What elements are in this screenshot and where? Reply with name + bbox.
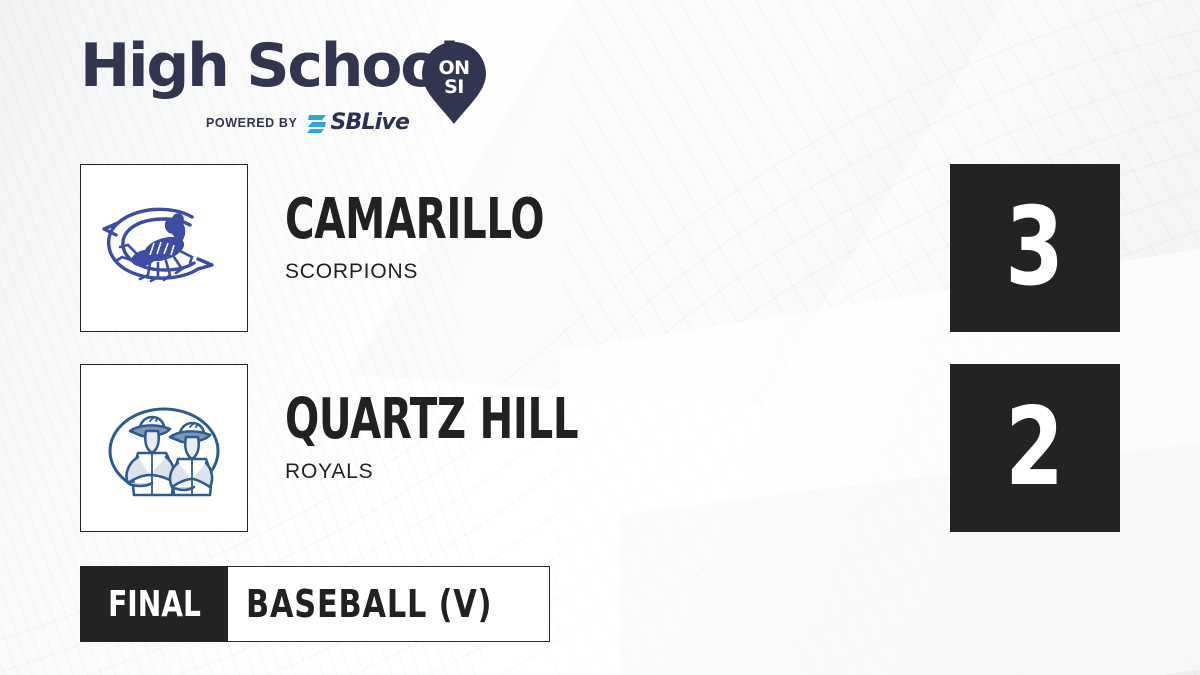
team-logo-box bbox=[80, 164, 248, 332]
team-name: CAMARILLO bbox=[285, 192, 746, 248]
powered-by-lockup: POWERED BY SBLive bbox=[206, 112, 409, 134]
pin-label-si: SI bbox=[420, 78, 488, 97]
team-row: CAMARILLO SCORPIONS 3 bbox=[80, 164, 1120, 334]
team-score-box: 2 bbox=[950, 364, 1120, 532]
scoreboard-graphic: High School ON SI POWERED BY SBLive bbox=[0, 0, 1200, 675]
team-score: 3 bbox=[1006, 194, 1065, 302]
sport-label-box: BASEBALL (V) bbox=[228, 566, 550, 642]
camarillo-scorpions-logo-icon bbox=[94, 193, 234, 303]
team-row: QUARTZ HILL ROYALS 2 bbox=[80, 364, 1120, 534]
team-name: QUARTZ HILL bbox=[285, 392, 746, 448]
team-identity: CAMARILLO SCORPIONS bbox=[285, 192, 925, 284]
powered-by-label: POWERED BY bbox=[206, 116, 297, 130]
quartz-hill-royals-logo-icon bbox=[94, 387, 234, 509]
team-identity: QUARTZ HILL ROYALS bbox=[285, 392, 925, 484]
sport-label-text: BASEBALL (V) bbox=[246, 582, 492, 626]
sblive-logo: SBLive bbox=[306, 112, 409, 134]
on-si-pin-badge: ON SI bbox=[420, 40, 488, 126]
status-banner: FINAL BASEBALL (V) bbox=[80, 566, 550, 642]
brand-wordmark: High School bbox=[80, 36, 458, 96]
team-score: 2 bbox=[1006, 394, 1065, 502]
team-mascot: SCORPIONS bbox=[285, 260, 925, 284]
brand-header: High School ON SI POWERED BY SBLive bbox=[80, 36, 510, 136]
game-status-text: FINAL bbox=[108, 584, 201, 625]
sblive-chevron-icon bbox=[306, 112, 328, 134]
sblive-wordmark: SBLive bbox=[330, 112, 409, 134]
team-logo-box bbox=[80, 364, 248, 532]
team-score-box: 3 bbox=[950, 164, 1120, 332]
game-status-badge: FINAL bbox=[80, 566, 228, 642]
team-mascot: ROYALS bbox=[285, 460, 925, 484]
